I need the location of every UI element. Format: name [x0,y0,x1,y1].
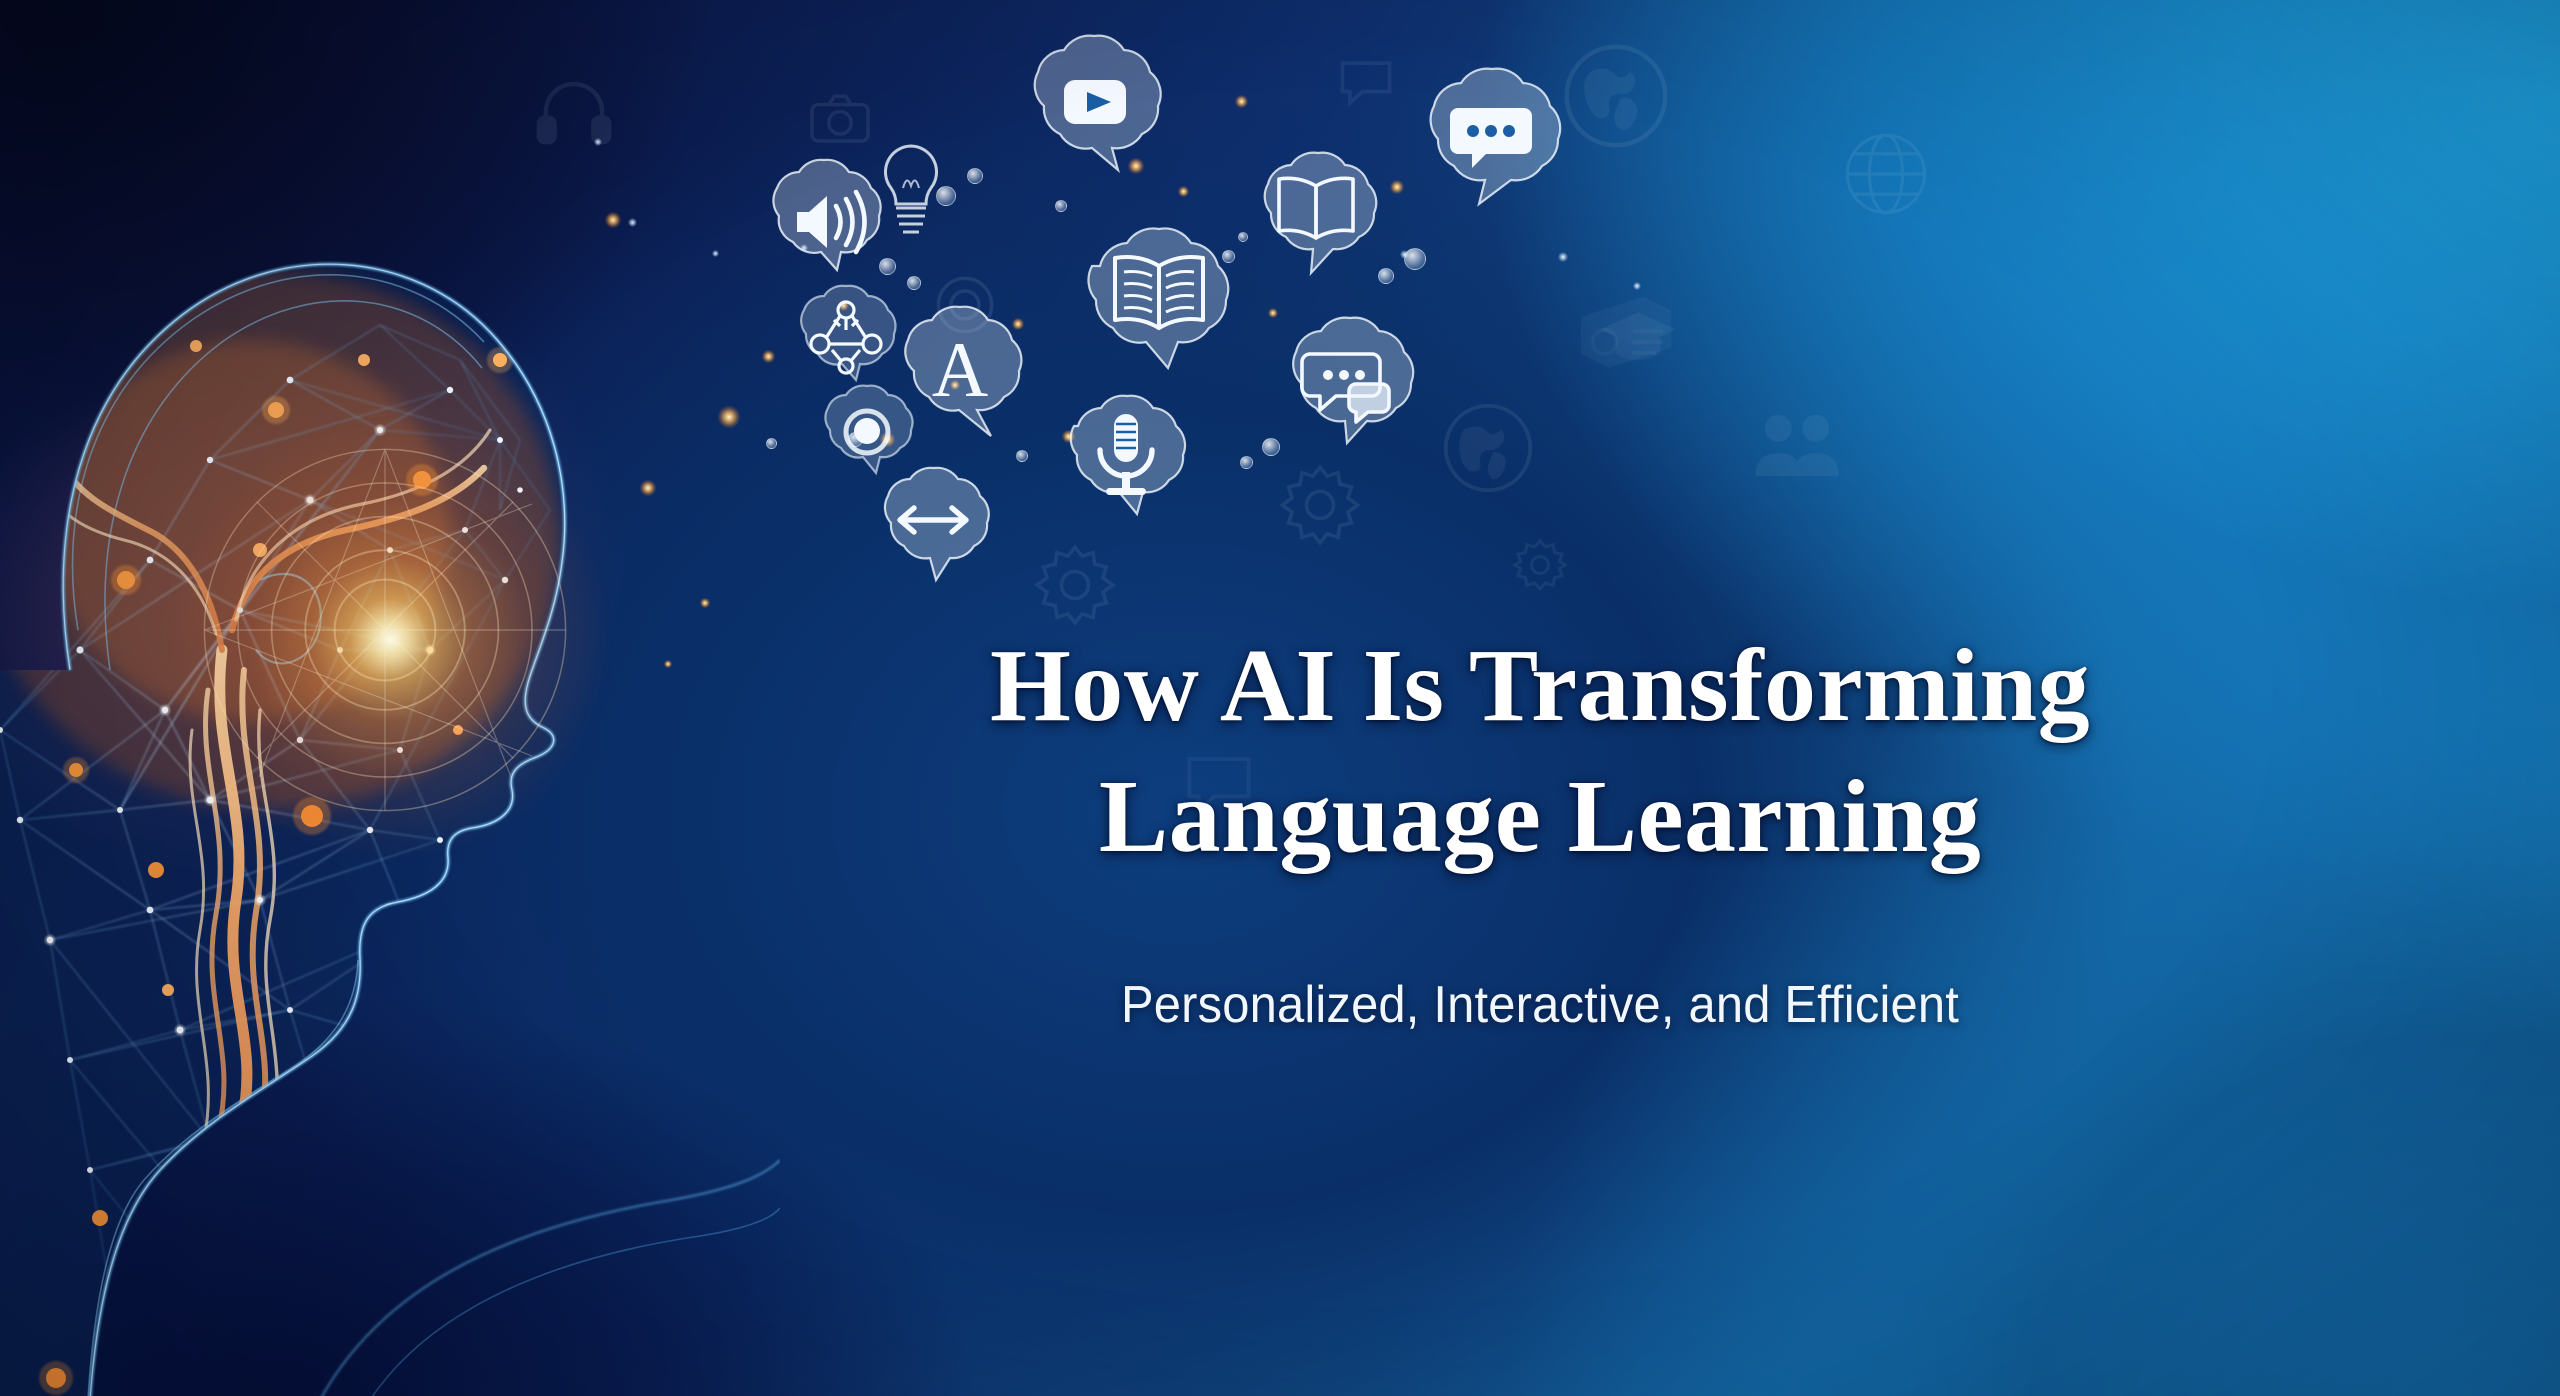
poster-canvas: A [0,0,2560,1396]
vignette-overlay [0,0,2560,1396]
